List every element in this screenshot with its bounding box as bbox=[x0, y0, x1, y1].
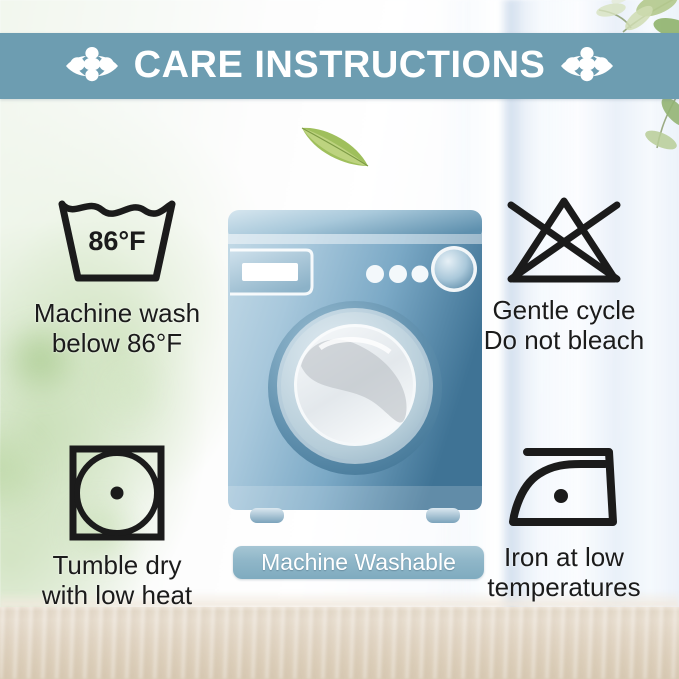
machine-indicator-dot bbox=[412, 266, 429, 283]
care-symbol-caption: Iron at low temperatures bbox=[455, 542, 673, 602]
care-symbol-caption: Machine wash below 86°F bbox=[8, 298, 226, 358]
fleur-de-lis-icon bbox=[559, 43, 615, 89]
machine-foot bbox=[250, 508, 284, 523]
wash-tub-icon: 86°F bbox=[54, 196, 180, 290]
care-symbol-caption: Tumble dry with low heat bbox=[8, 550, 226, 610]
machine-indicator-dot bbox=[366, 265, 384, 283]
page-title: CARE INSTRUCTIONS bbox=[130, 46, 550, 86]
machine-foot bbox=[426, 508, 460, 523]
care-symbol-tumble-dry: Tumble dry with low heat bbox=[8, 444, 226, 610]
care-symbol-no-bleach: Gentle cycle Do not bleach bbox=[455, 193, 673, 355]
care-symbol-iron: Iron at low temperatures bbox=[455, 444, 673, 602]
triangle-crossed-out-icon bbox=[503, 193, 625, 287]
machine-washable-badge: Machine Washable bbox=[233, 546, 484, 579]
wash-temperature-value: 86°F bbox=[88, 226, 145, 256]
tumble-dry-square-icon bbox=[68, 444, 166, 542]
floating-leaf-icon bbox=[298, 118, 372, 174]
machine-display-screen bbox=[242, 263, 298, 281]
fleur-de-lis-icon bbox=[64, 43, 120, 89]
iron-heat-level-dot bbox=[554, 489, 568, 503]
care-symbol-machine-wash: 86°F Machine wash below 86°F bbox=[8, 196, 226, 358]
dry-heat-level-dot bbox=[111, 487, 124, 500]
machine-indicator-dot bbox=[389, 265, 407, 283]
care-instructions-infographic: CARE INSTRUCTIONS 86°F Machine wash belo… bbox=[0, 0, 679, 679]
banner: CARE INSTRUCTIONS bbox=[0, 33, 679, 99]
iron-icon bbox=[505, 444, 623, 534]
wooden-table-surface bbox=[0, 607, 679, 679]
washing-machine-illustration bbox=[224, 208, 486, 530]
badge-label: Machine Washable bbox=[261, 551, 456, 574]
care-symbol-caption: Gentle cycle Do not bleach bbox=[455, 295, 673, 355]
